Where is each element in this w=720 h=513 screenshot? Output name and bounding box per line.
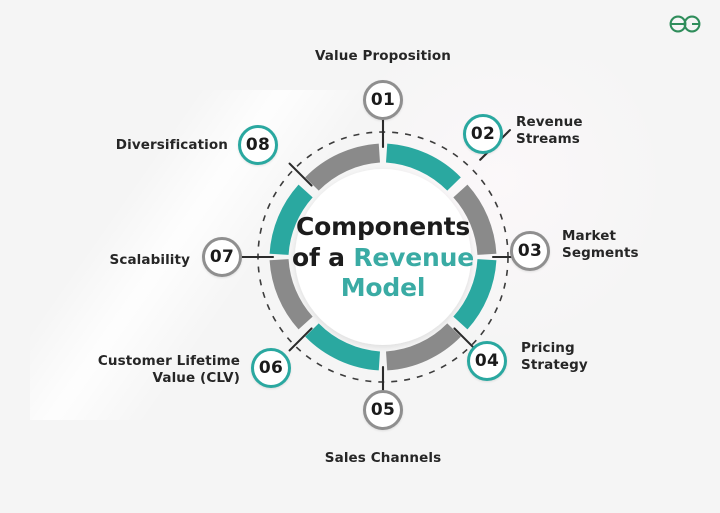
center-title: Components of a Revenue Model (283, 212, 483, 304)
badge-05[interactable]: 05 (363, 390, 403, 430)
center-title-line2-accent: Revenue (353, 243, 474, 272)
badge-02[interactable]: 02 (463, 114, 503, 154)
badge-03-number: 03 (518, 241, 542, 261)
badge-02-number: 02 (471, 124, 495, 144)
center-title-line3: Model (283, 273, 483, 304)
center-title-line2: of a Revenue (283, 243, 483, 274)
label-01-value-proposition: Value Proposition (283, 48, 483, 65)
badge-01-number: 01 (371, 90, 395, 110)
center-title-line2-plain: of a (292, 243, 353, 272)
label-04-pricing-strategy: Pricing Strategy (521, 340, 651, 375)
label-08-diversification: Diversification (78, 137, 228, 154)
badge-08[interactable]: 08 (238, 125, 278, 165)
label-05-sales-channels: Sales Channels (283, 450, 483, 467)
badge-06-number: 06 (259, 358, 283, 378)
label-06-customer-lifetime-value: Customer Lifetime Value (CLV) (60, 353, 240, 388)
center-title-line1: Components (283, 212, 483, 243)
badge-04-number: 04 (475, 351, 499, 371)
geeksforgeeks-logo[interactable] (663, 11, 707, 37)
badge-05-number: 05 (371, 400, 395, 420)
badge-06[interactable]: 06 (251, 348, 291, 388)
label-02-revenue-streams: Revenue Streams (516, 114, 646, 149)
badge-07-number: 07 (210, 247, 234, 267)
badge-03[interactable]: 03 (510, 231, 550, 271)
badge-01[interactable]: 01 (363, 80, 403, 120)
badge-08-number: 08 (246, 135, 270, 155)
label-07-scalability: Scalability (70, 252, 190, 269)
badge-07[interactable]: 07 (202, 237, 242, 277)
label-03-market-segments: Market Segments (562, 228, 692, 263)
infographic-canvas: 01 02 03 04 05 06 07 08 Value Propositio… (0, 0, 720, 513)
badge-04[interactable]: 04 (467, 341, 507, 381)
